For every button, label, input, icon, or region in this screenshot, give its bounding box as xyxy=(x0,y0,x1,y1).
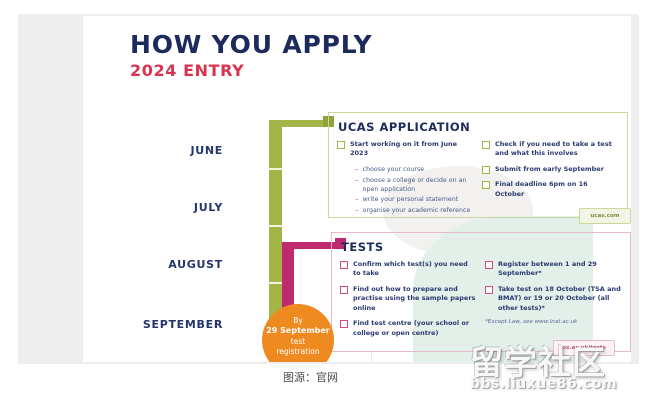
timeline-tick xyxy=(269,225,282,227)
poster-title-block: HOW YOU APPLY 2024 ENTRY xyxy=(130,32,372,80)
checkbox-icon[interactable] xyxy=(482,166,490,174)
link-badge-tests[interactable]: ox.ac.uk/tests xyxy=(553,340,615,356)
checklist-item-label: Confirm which test(s) you need to take xyxy=(353,260,477,279)
sub-list-item-label: choose your course xyxy=(363,165,425,175)
watermark-url: bbs.liuxue86.com xyxy=(470,376,650,392)
checkbox-icon[interactable] xyxy=(340,261,348,269)
checklist-item: Final deadline 6pm on 16 October xyxy=(482,180,619,199)
card-tests-heading: TESTS xyxy=(341,240,630,254)
checkbox-icon[interactable] xyxy=(340,320,348,328)
sub-list-item: – organise your academic reference xyxy=(355,206,474,216)
checklist-item-label: Final deadline 6pm on 16 October xyxy=(495,180,619,199)
poster-canvas: HOW YOU APPLY 2024 ENTRY JUNE JULY AUGUS… xyxy=(83,16,631,362)
card-ucas-application: UCAS APPLICATION Start working on it fro… xyxy=(328,112,628,218)
card-ucas-left-column: Start working on it from June 2023 – cho… xyxy=(337,140,474,221)
checklist-item-label: Check if you need to take a test and wha… xyxy=(495,140,619,159)
link-badge-ucas[interactable]: ucas.com xyxy=(579,208,631,224)
checkbox-icon[interactable] xyxy=(340,286,348,294)
screenshot-root: HOW YOU APPLY 2024 ENTRY JUNE JULY AUGUS… xyxy=(0,0,657,404)
deadline-badge-line1: By xyxy=(262,316,334,326)
checklist-item: Take test on 18 October (TSA and BMAT) o… xyxy=(485,285,622,313)
card-ucas-heading: UCAS APPLICATION xyxy=(338,120,627,134)
checkbox-icon[interactable] xyxy=(482,141,490,149)
checkbox-icon[interactable] xyxy=(485,261,493,269)
card-ucas-sublist: – choose your course – choose a college … xyxy=(355,165,474,216)
month-label-june: JUNE xyxy=(83,144,223,157)
checklist-item: Register between 1 and 29 September* xyxy=(485,260,622,279)
checklist-item: Start working on it from June 2023 xyxy=(337,140,474,159)
dash-icon: – xyxy=(355,176,359,195)
deadline-badge-line4: registration xyxy=(262,347,334,357)
checklist-item-label: Find out how to prepare and practise usi… xyxy=(353,285,477,313)
sub-list-item-label: write your personal statement xyxy=(363,195,459,205)
month-label-september: SEPTEMBER xyxy=(83,318,223,331)
card-tests-footnote: *Except Law, see www.lnat.ac.uk xyxy=(485,319,622,325)
card-tests: TESTS Confirm which test(s) you need to … xyxy=(331,232,631,352)
checklist-item: Find out how to prepare and practise usi… xyxy=(340,285,477,313)
checklist-item: Confirm which test(s) you need to take xyxy=(340,260,477,279)
card-tests-left-column: Confirm which test(s) you need to take F… xyxy=(340,260,477,344)
deadline-badge: By 29 September test registration xyxy=(262,304,334,362)
checklist-item-label: Start working on it from June 2023 xyxy=(350,140,474,159)
checklist-item-label: Submit from early September xyxy=(495,165,604,174)
page-subtitle: 2024 ENTRY xyxy=(130,61,372,80)
dash-icon: – xyxy=(355,165,359,175)
sub-list-item-label: choose a college or decide on an open ap… xyxy=(363,176,474,195)
checklist-item-label: Find test centre (your school or college… xyxy=(353,319,477,338)
checklist-item: Check if you need to take a test and wha… xyxy=(482,140,619,159)
image-source-caption: 图源：官网 xyxy=(283,369,338,385)
sub-list-item: – choose a college or decide on an open … xyxy=(355,176,474,195)
checkbox-icon[interactable] xyxy=(485,286,493,294)
dash-icon: – xyxy=(355,206,359,216)
checklist-item: Submit from early September xyxy=(482,165,619,174)
sub-list-item: – choose your course xyxy=(355,165,474,175)
sub-list-item: – write your personal statement xyxy=(355,195,474,205)
checklist-item-label: Take test on 18 October (TSA and BMAT) o… xyxy=(498,285,622,313)
checkbox-icon[interactable] xyxy=(482,181,490,189)
dash-icon: – xyxy=(355,195,359,205)
timeline-tick xyxy=(269,168,282,170)
deadline-badge-line2: 29 September xyxy=(262,326,334,337)
ghost-card-outline xyxy=(371,353,551,362)
deadline-badge-line3: test xyxy=(262,337,334,347)
page-title: HOW YOU APPLY xyxy=(130,32,372,58)
checklist-item: Find test centre (your school or college… xyxy=(340,319,477,338)
month-label-august: AUGUST xyxy=(83,258,223,271)
month-label-july: JULY xyxy=(83,201,223,214)
card-tests-columns: Confirm which test(s) you need to take F… xyxy=(332,260,630,344)
sub-list-item-label: organise your academic reference xyxy=(363,206,471,216)
card-tests-right-column: Register between 1 and 29 September* Tak… xyxy=(485,260,622,344)
timeline-tick xyxy=(269,282,282,284)
timeline-bar-ucas xyxy=(269,120,282,337)
checklist-item-label: Register between 1 and 29 September* xyxy=(498,260,622,279)
checkbox-icon[interactable] xyxy=(337,141,345,149)
